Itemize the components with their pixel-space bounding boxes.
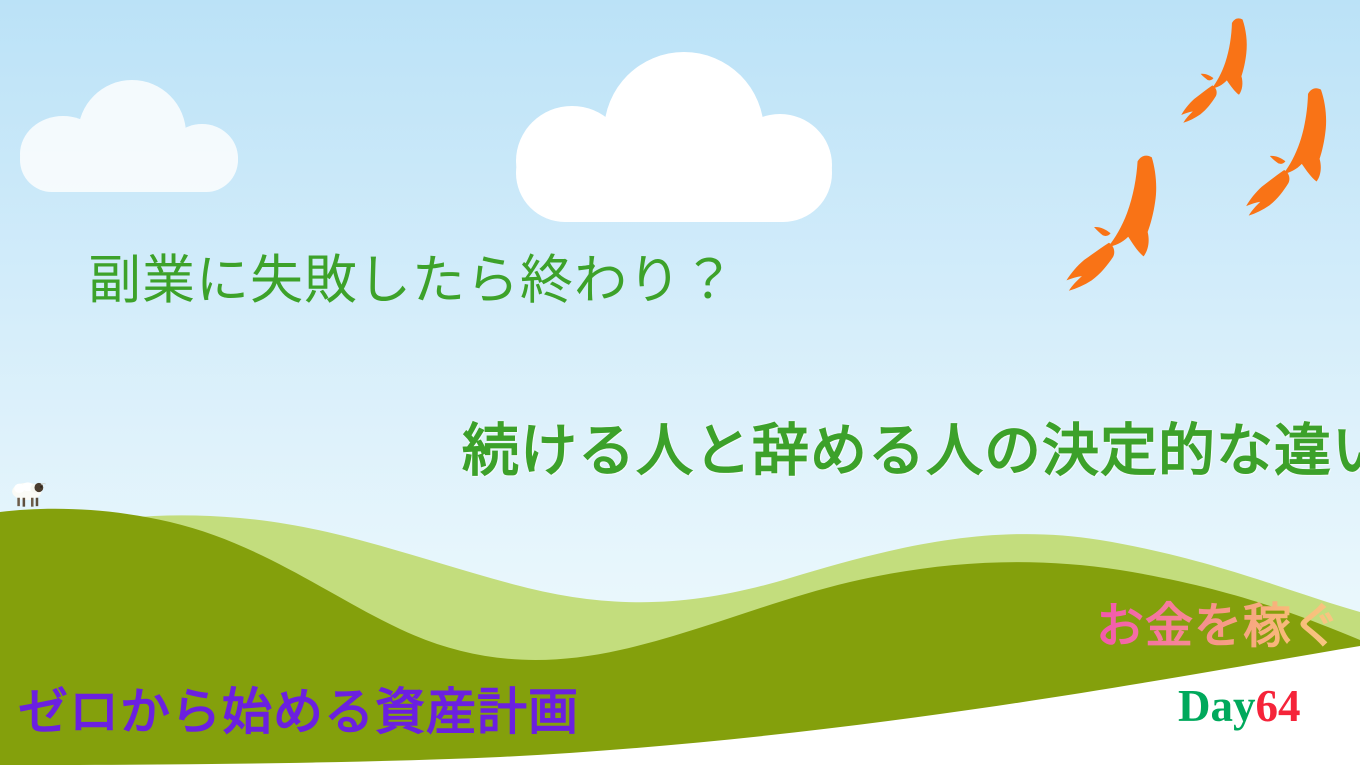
thumbnail-canvas: 副業に失敗したら終わり？ 続ける人と辞める人の決定的な違い お金を稼ぐ ゼロから… (0, 0, 1360, 765)
day-counter-number: 64 (1256, 681, 1301, 731)
headline-line-2: 続ける人と辞める人の決定的な違い (462, 420, 1360, 483)
bird-icon-2 (1231, 87, 1338, 215)
headline-line-1: 副業に失敗したら終わり？ (88, 252, 736, 310)
bird-icon-1 (1169, 18, 1257, 123)
tagline-text: お金を稼ぐ (1096, 586, 1341, 656)
bird-icon-3 (1054, 155, 1166, 291)
day-counter-label: Day (1178, 681, 1256, 731)
day-counter: Day64 (1178, 680, 1301, 732)
bird-group (1054, 18, 1338, 291)
sheep-icon (12, 482, 45, 506)
series-title: ゼロから始める資産計画 (18, 672, 579, 744)
